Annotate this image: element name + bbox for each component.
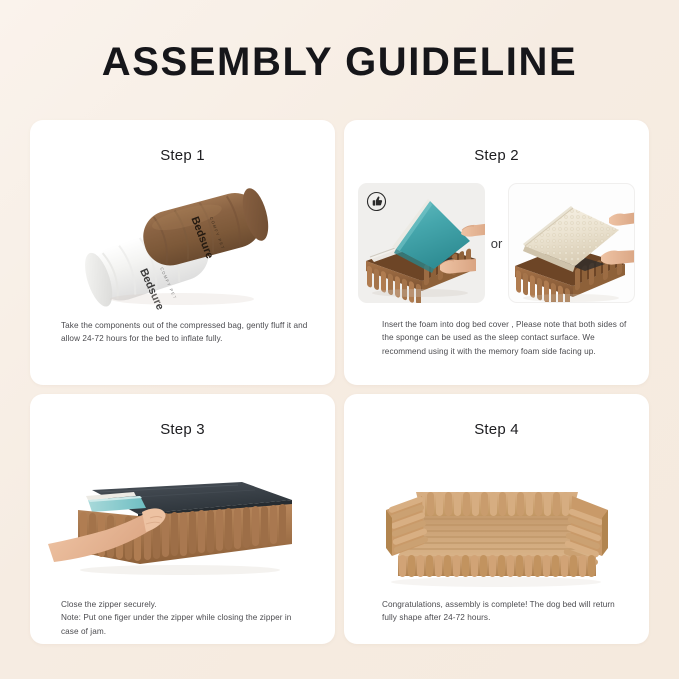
step-3-caption-line-2: Note: Put one figer under the zipper whi… [61,611,311,638]
teal-foam-insert-image [358,183,485,303]
memory-foam-insert-image [508,183,635,303]
step-3-caption: Close the zipper securely. Note: Put one… [61,598,311,638]
step-4-caption: Congratulations, assembly is complete! T… [382,598,625,625]
step-card-1: Step 1 [30,120,335,385]
step-1-heading: Step 1 [30,120,335,164]
thumbs-up-icon [366,191,387,212]
step-2-caption: Insert the foam into dog bed cover , Ple… [382,318,629,358]
infographic-page: ASSEMBLY GUIDELINE Step 1 [0,0,679,679]
page-title: ASSEMBLY GUIDELINE [0,0,679,82]
finished-dog-bed-image [344,452,649,597]
zipper-closing-image [30,452,335,597]
step-card-3: Step 3 [30,394,335,644]
steps-grid: Step 1 [30,120,649,644]
compressed-bags-image: Bedsure COMFY PET Bedsure COMFY PET [30,175,335,315]
step-1-caption: Take the components out of the compresse… [61,319,311,346]
step-2-separator: or [485,236,508,251]
step-2-heading: Step 2 [344,120,649,164]
step-card-2: Step 2 [344,120,649,385]
step-3-heading: Step 3 [30,394,335,438]
step-3-caption-line-1: Close the zipper securely. [61,598,311,611]
step-card-4: Step 4 [344,394,649,644]
step-4-heading: Step 4 [344,394,649,438]
step-2-images: or [358,183,635,303]
